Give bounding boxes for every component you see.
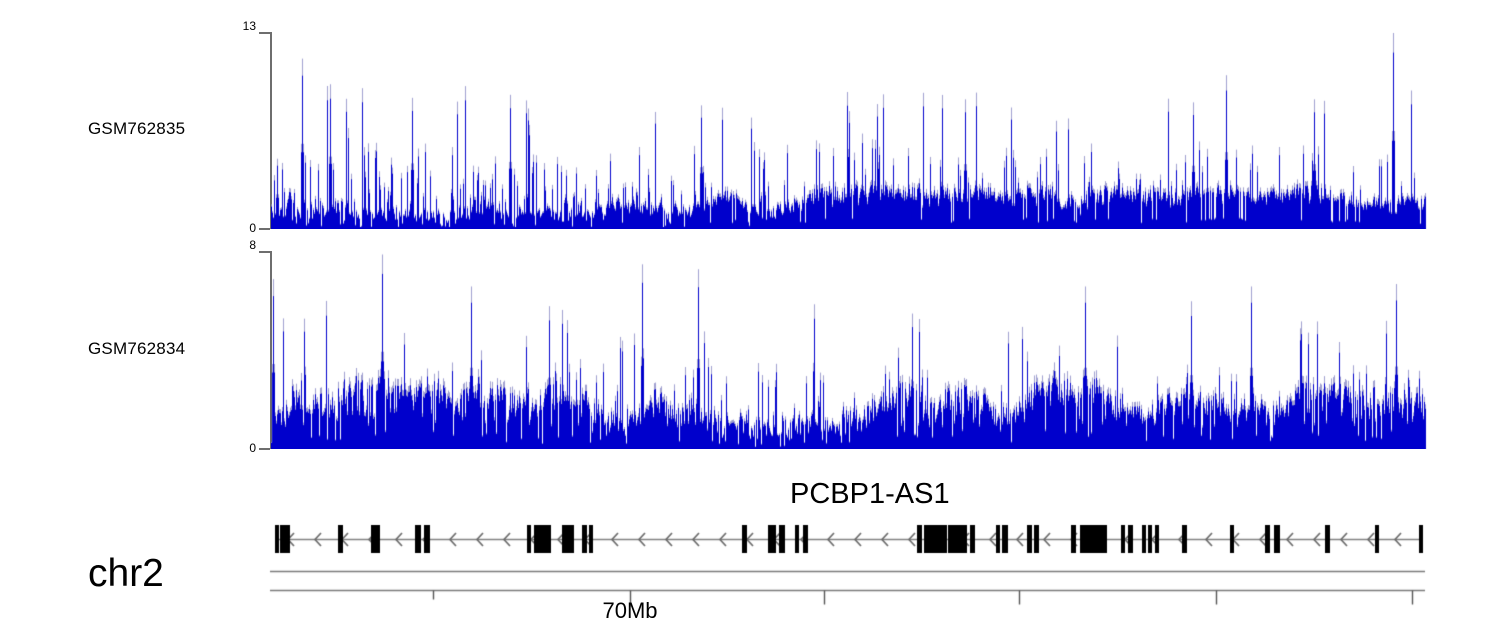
ruler-tick-label: 70Mb <box>602 598 657 624</box>
y-axis-top-tick-track1 <box>259 251 270 253</box>
y-axis-bottom-tick-track1 <box>259 448 270 450</box>
axis-min-label-track0: 0 <box>222 222 256 234</box>
axis-max-label-track1: 8 <box>222 239 256 251</box>
axis-min-label-track1: 0 <box>222 442 256 454</box>
y-axis-bottom-tick-track0 <box>259 228 270 230</box>
genome-browser: GSM762835 13 0 GSM762834 8 0 PCBP1-AS1 c… <box>0 0 1500 640</box>
track-label-gsm762834: GSM762834 <box>88 339 185 359</box>
gene-name-label[interactable]: PCBP1-AS1 <box>790 478 950 511</box>
coverage-plot-gsm762835[interactable] <box>271 32 1428 229</box>
coverage-plot-gsm762834[interactable] <box>271 251 1428 449</box>
genomic-coordinate-ruler[interactable] <box>268 567 1433 607</box>
chromosome-label: chr2 <box>88 552 164 596</box>
y-axis-top-tick-track0 <box>259 32 270 34</box>
axis-max-label-track0: 13 <box>222 20 256 32</box>
track-label-gsm762835: GSM762835 <box>88 119 185 139</box>
gene-model-track[interactable] <box>268 521 1429 565</box>
